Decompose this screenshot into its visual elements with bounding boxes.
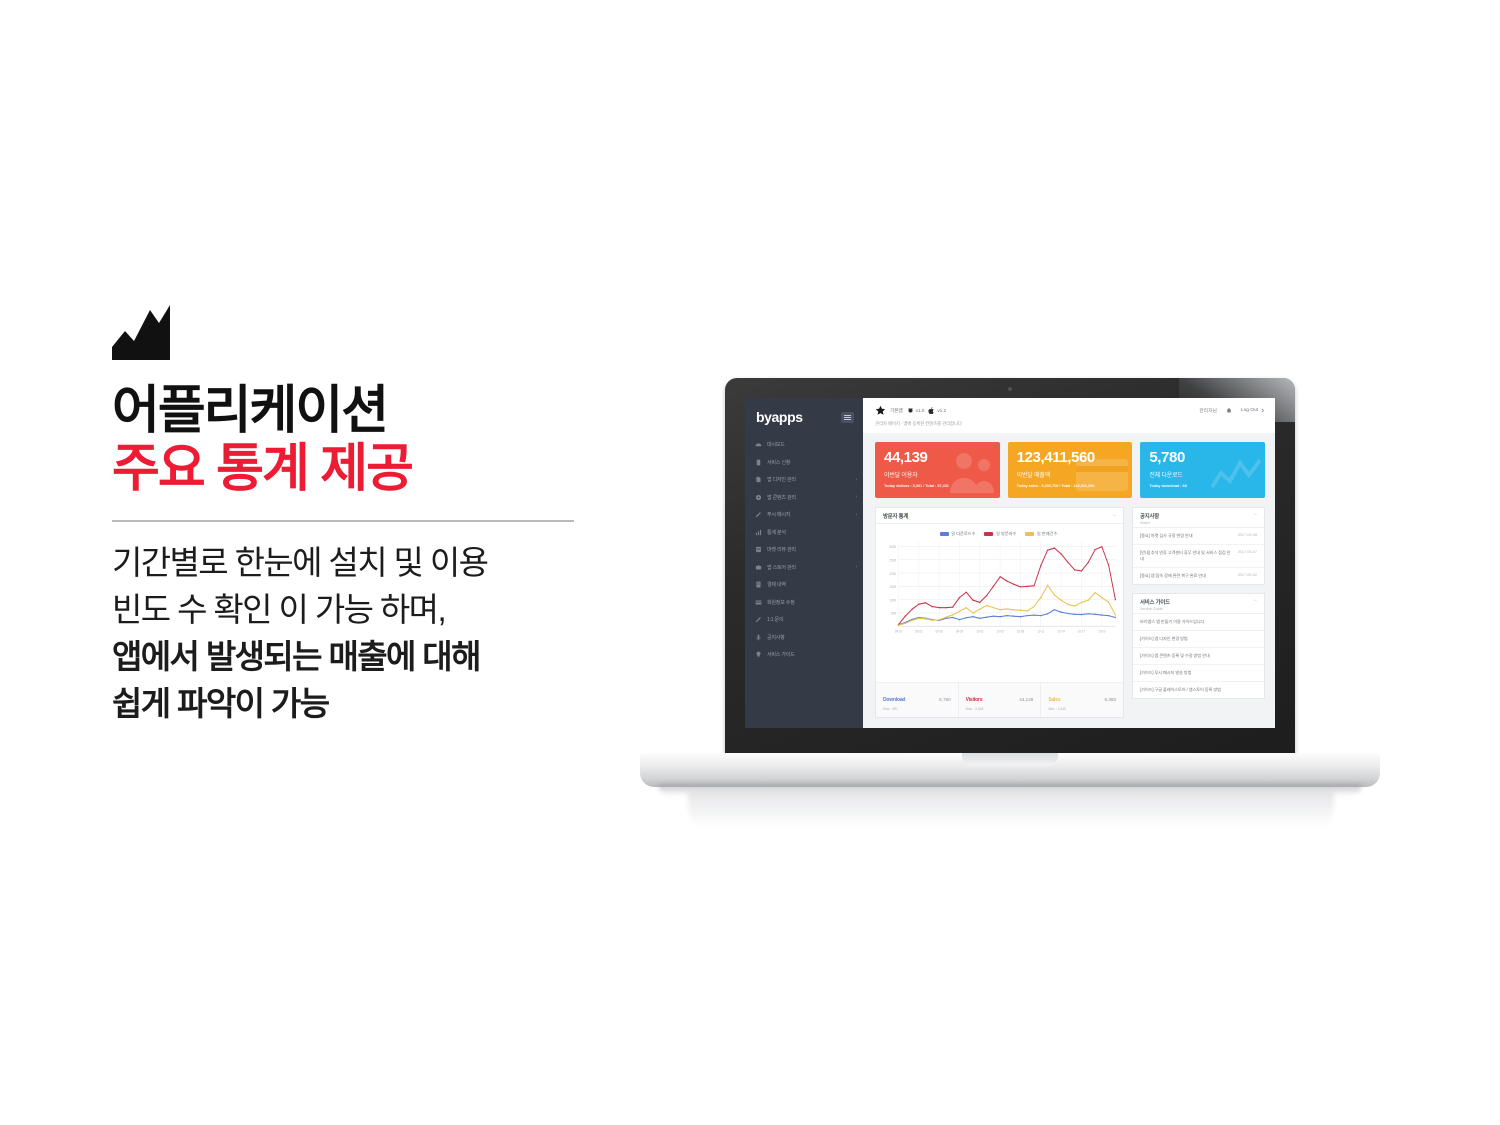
guide-panel-titles: 서비스 가이드 Service Guide [1140, 598, 1170, 611]
svg-text:2000: 2000 [889, 572, 896, 576]
stat-label: 전체 다운로드 [1149, 470, 1256, 479]
apple-icon [928, 407, 935, 414]
stat-cards: 44,139이번달 이용자Today visitors : 5,201 / To… [863, 433, 1275, 498]
laptop-reflection [688, 792, 1334, 834]
topbar-subtitle: 관리자 페이지 - 앱에 등록된 컨텐츠를 관리합니다 [875, 421, 1265, 427]
chart-legend: 일 다운로드수일 방문자수일 판매건수 [878, 528, 1119, 537]
sidebar-item-label: 서비스 가이드 [767, 651, 795, 658]
card-icon [755, 599, 762, 606]
svg-text:10-11: 10-11 [1037, 629, 1044, 633]
lightbulb-icon [755, 651, 762, 658]
stat-label: 이번달 매출액 [1017, 470, 1124, 479]
guide-panel-title: 서비스 가이드 [1140, 598, 1170, 606]
sidebar: byapps 대시보드서비스 신청앱 디자인 관리›앱 콘텐츠 관리›푸시 메시… [745, 398, 863, 728]
promo-text-block: 어플리케이션 주요 통계 제공 기간별로 한눈에 설치 및 이용 빈도 수 확인… [112, 305, 652, 728]
promo-slide: 어플리케이션 주요 통계 제공 기간별로 한눈에 설치 및 이용 빈도 수 확인… [0, 0, 1500, 1125]
sidebar-item-label: 결제 내역 [767, 581, 786, 588]
legend-item-0[interactable]: 일 다운로드수 [940, 531, 976, 537]
sidebar-item-7[interactable]: 앱 스토어 관리› [745, 559, 863, 577]
minus-icon[interactable]: − [1112, 513, 1116, 519]
guide-item-2[interactable]: [가이드] 앱 콘텐츠 등록 및 수정 방법 안내 [1133, 648, 1264, 665]
notice-date: 2017-09-08 [1238, 533, 1257, 537]
svg-text:3000: 3000 [889, 545, 896, 549]
sidebar-item-5[interactable]: 통계 분석 [745, 524, 863, 542]
topbar: 기본앱 v1.0 [863, 398, 1275, 433]
stat-label: 이번달 이용자 [884, 470, 991, 479]
sidebar-item-0[interactable]: 대시보드 [745, 436, 863, 454]
receipt-icon [755, 581, 762, 588]
svg-text:10-17: 10-17 [1078, 629, 1085, 633]
logout-button[interactable]: Log Out [1241, 408, 1265, 413]
megaphone-icon [755, 634, 762, 641]
mobile-icon [755, 459, 762, 466]
notice-panel-head: 공지사항 Notice − [1133, 508, 1264, 528]
body-line-1: 기간별로 한눈에 설치 및 이용 [112, 540, 652, 587]
apple-version: v1.2 [937, 408, 946, 413]
hamburger-icon[interactable] [841, 412, 854, 423]
notice-text: [중요] 마켓 심사 규정 변경 안내 [1140, 533, 1192, 539]
chevron-right-icon: › [856, 477, 857, 483]
legend-item-1[interactable]: 일 방문자수 [984, 531, 1016, 537]
notice-item-2[interactable]: [중요] 앱 접속 장애 관련 복구 완료 안내2017-09-02 [1133, 568, 1264, 584]
topbar-left: 기본앱 v1.0 [875, 405, 946, 416]
notice-list: [중요] 마켓 심사 규정 변경 안내2017-09-08[안내] 추석 연휴 … [1133, 528, 1264, 584]
sidebar-item-label: 앱 스토어 관리 [767, 564, 796, 571]
foot-name: Sales [1048, 697, 1060, 703]
android-version: v1.0 [916, 408, 925, 413]
sidebar-item-6[interactable]: 마켓 리뷰 관리 [745, 541, 863, 559]
foot-name: Visitors [966, 697, 983, 703]
stat-meta: Today download : 68 [1149, 483, 1256, 488]
chart-foot-cell-0: DownloadMax : 9915,780 [876, 683, 959, 718]
sidebar-item-9[interactable]: 회원정보 수정 [745, 594, 863, 612]
lower-region: 방문자 통계 − 일 다운로드수일 방문자수일 판매건수 50010001500… [863, 498, 1275, 728]
android-stat: v1.0 [907, 407, 925, 414]
legend-label: 일 방문자수 [996, 531, 1016, 537]
stat-meta: Today visitors : 5,201 / Total : 57,431 [884, 483, 991, 488]
svg-text:1500: 1500 [889, 585, 896, 589]
legend-label: 일 판매건수 [1037, 531, 1057, 537]
chart-panel-title: 방문자 통계 [883, 512, 908, 520]
foot-sub: Max : 1,540 [1048, 707, 1066, 711]
chart-body: 일 다운로드수일 방문자수일 판매건수 50010001500200025003… [876, 524, 1123, 682]
stat-meta: Today sales : 5,292,700 / Total : 142,91… [1017, 483, 1124, 488]
foot-sub: Max : 991 [883, 707, 905, 711]
legend-item-2[interactable]: 일 판매건수 [1025, 531, 1057, 537]
sidebar-item-label: 회원정보 수정 [767, 599, 795, 606]
body-line-4: 쉽게 파악이 가능 [112, 681, 652, 728]
laptop-mockup: byapps 대시보드서비스 신청앱 디자인 관리›앱 콘텐츠 관리›푸시 메시… [640, 378, 1380, 838]
foot-sub: Max : 3,048 [966, 707, 984, 711]
svg-text:10-08: 10-08 [1017, 629, 1024, 633]
foot-name: Download [883, 697, 905, 703]
guide-panel: 서비스 가이드 Service Guide − 바이앱스 앱 만들기 이용 가이… [1132, 593, 1265, 699]
legend-swatch [984, 532, 993, 536]
svg-text:10-14: 10-14 [1058, 629, 1065, 633]
svg-text:10-02: 10-02 [976, 629, 983, 633]
svg-text:10-05: 10-05 [997, 629, 1004, 633]
sidebar-item-label: 대시보드 [767, 441, 785, 448]
legend-swatch [1025, 532, 1034, 536]
stat-value: 44,139 [884, 450, 991, 465]
svg-text:500: 500 [891, 611, 896, 615]
laptop-base-notch [962, 753, 1058, 766]
logout-label: Log Out [1241, 408, 1258, 413]
sidebar-item-label: 마켓 리뷰 관리 [767, 546, 796, 553]
sidebar-item-label: 푸시 메시지 [767, 511, 790, 518]
foot-value: 5,780 [939, 697, 951, 702]
chevron-right-icon: › [856, 512, 857, 518]
guide-panel-subtitle: Service Guide [1140, 607, 1170, 611]
body-copy: 기간별로 한눈에 설치 및 이용 빈도 수 확인 이 가능 하며, 앱에서 발생… [112, 540, 652, 727]
sidebar-item-11[interactable]: 공지사항 [745, 629, 863, 647]
legend-swatch [940, 532, 949, 536]
bar-chart-icon [755, 529, 762, 536]
webcam-icon [1008, 387, 1012, 391]
notice-item-1[interactable]: [안내] 추석 연휴 고객센터 휴무 안내 및 서비스 점검 안내2017-09… [1133, 545, 1264, 568]
sidebar-item-3[interactable]: 앱 콘텐츠 관리› [745, 489, 863, 507]
minus-icon[interactable]: − [1253, 512, 1257, 518]
chart-foot-cell-2: SalesMax : 1,5405,380 [1041, 683, 1123, 718]
sidebar-item-10[interactable]: 1:1 문의 [745, 611, 863, 629]
notice-panel-title: 공지사항 [1140, 512, 1159, 520]
svg-text:2500: 2500 [889, 558, 896, 562]
chart-panel-head: 방문자 통계 − [876, 508, 1123, 524]
notice-panel: 공지사항 Notice − [중요] 마켓 심사 규정 변경 안내2017-09… [1132, 507, 1265, 585]
stat-value: 123,411,560 [1017, 450, 1124, 465]
stat-card-0[interactable]: 44,139이번달 이용자Today visitors : 5,201 / To… [875, 442, 1000, 498]
notice-item-0[interactable]: [중요] 마켓 심사 규정 변경 안내2017-09-08 [1133, 528, 1264, 545]
chart-footer-stats: DownloadMax : 9915,780VisitorsMax : 3,04… [876, 682, 1123, 718]
foot-value: 44,139 [1019, 697, 1033, 702]
notice-date: 2017-09-07 [1238, 550, 1257, 554]
sidebar-nav: 대시보드서비스 신청앱 디자인 관리›앱 콘텐츠 관리›푸시 메시지›통계 분석… [745, 436, 863, 664]
android-icon [907, 407, 914, 414]
sidebar-item-8[interactable]: 결제 내역 [745, 576, 863, 594]
legend-label: 일 다운로드수 [951, 531, 975, 537]
sidebar-item-12[interactable]: 서비스 가이드 [745, 646, 863, 664]
chart-foot-cell-1: VisitorsMax : 3,04844,139 [959, 683, 1042, 718]
minus-icon[interactable]: − [1253, 598, 1257, 604]
logout-arrow-icon [1260, 408, 1265, 413]
guide-item-4[interactable]: [가이드] 구글 플레이스토어 / 앱스토어 등록 방법 [1133, 682, 1264, 698]
dashboard-screen: byapps 대시보드서비스 신청앱 디자인 관리›앱 콘텐츠 관리›푸시 메시… [745, 398, 1275, 728]
guide-item-1[interactable]: [가이드] 앱 디자인 변경 방법 [1133, 631, 1264, 648]
headline-line-1: 어플리케이션 [112, 382, 652, 440]
svg-text:09-23: 09-23 [915, 629, 922, 633]
topbar-row: 기본앱 v1.0 [875, 405, 1265, 416]
divider [112, 520, 574, 522]
stat-value: 5,780 [1149, 450, 1256, 465]
sidebar-brand-row: byapps [745, 398, 863, 436]
guide-list: 바이앱스 앱 만들기 이용 가이드입니다[가이드] 앱 디자인 변경 방법[가이… [1133, 614, 1264, 698]
laptop-lid: byapps 대시보드서비스 신청앱 디자인 관리›앱 콘텐츠 관리›푸시 메시… [725, 378, 1295, 763]
sidebar-item-label: 앱 콘텐츠 관리 [767, 494, 796, 501]
notice-text: [안내] 추석 연휴 고객센터 휴무 안내 및 서비스 점검 안내 [1140, 550, 1234, 562]
sidebar-item-label: 앱 디자인 관리 [767, 476, 796, 483]
sidebar-item-label: 공지사항 [767, 634, 785, 641]
gear-icon [755, 494, 762, 501]
pencil-icon [755, 511, 762, 518]
svg-text:1000: 1000 [889, 598, 896, 602]
line-chart: 5001000150020002500300009-2009-2309-2609… [878, 537, 1119, 640]
headline: 어플리케이션 주요 통계 제공 [112, 382, 652, 498]
sidebar-item-label: 1:1 문의 [767, 616, 783, 623]
sidebar-item-label: 통계 분석 [767, 529, 786, 536]
sidebar-item-1[interactable]: 서비스 신청 [745, 454, 863, 472]
briefcase-icon [755, 564, 762, 571]
svg-text:09-29: 09-29 [956, 629, 963, 633]
notice-text: [중요] 앱 접속 장애 관련 복구 완료 안내 [1140, 573, 1206, 579]
dashboard-icon [755, 441, 762, 448]
chevron-right-icon: › [856, 494, 857, 500]
stat-card-2[interactable]: 5,780전체 다운로드Today download : 68 [1140, 442, 1265, 498]
visitor-chart-panel: 방문자 통계 − 일 다운로드수일 방문자수일 판매건수 50010001500… [875, 507, 1124, 718]
svg-text:10-20: 10-20 [1098, 629, 1105, 633]
chevron-right-icon: › [856, 564, 857, 570]
edit-icon [755, 616, 762, 623]
guide-item-3[interactable]: [가이드] 푸시 메시지 발송 방법 [1133, 665, 1264, 682]
svg-text:09-26: 09-26 [936, 629, 943, 633]
paint-icon [755, 476, 762, 483]
right-column: 공지사항 Notice − [중요] 마켓 심사 규정 변경 안내2017-09… [1132, 507, 1265, 718]
notice-panel-subtitle: Notice [1140, 521, 1159, 525]
topbar-right: 관리자님 Log Out [1199, 407, 1265, 414]
apple-stat: v1.2 [928, 407, 946, 414]
user-label[interactable]: 관리자님 [1199, 407, 1217, 414]
guide-item-0[interactable]: 바이앱스 앱 만들기 이용 가이드입니다 [1133, 614, 1264, 631]
mountain-chart-icon [112, 305, 212, 360]
stat-card-1[interactable]: 123,411,560이번달 매출액Today sales : 5,292,70… [1008, 442, 1133, 498]
list-icon [755, 546, 762, 553]
body-line-2: 빈도 수 확인 이 가능 하며, [112, 587, 652, 634]
notice-date: 2017-09-02 [1238, 573, 1257, 577]
svg-text:09-20: 09-20 [895, 629, 902, 633]
guide-panel-head: 서비스 가이드 Service Guide − [1133, 594, 1264, 614]
sidebar-item-label: 서비스 신청 [767, 459, 790, 466]
brand-logo: byapps [756, 409, 803, 425]
dashboard-main: 기본앱 v1.0 [863, 398, 1275, 728]
bell-icon[interactable] [1226, 407, 1232, 414]
foot-value: 5,380 [1105, 697, 1117, 702]
sidebar-item-4[interactable]: 푸시 메시지› [745, 506, 863, 524]
sidebar-item-2[interactable]: 앱 디자인 관리› [745, 471, 863, 489]
notice-panel-titles: 공지사항 Notice [1140, 512, 1159, 525]
body-line-3: 앱에서 발생되는 매출에 대해 [112, 634, 652, 681]
headline-line-2: 주요 통계 제공 [112, 440, 652, 498]
app-name: 기본앱 [890, 408, 903, 414]
star-icon[interactable] [875, 405, 886, 416]
